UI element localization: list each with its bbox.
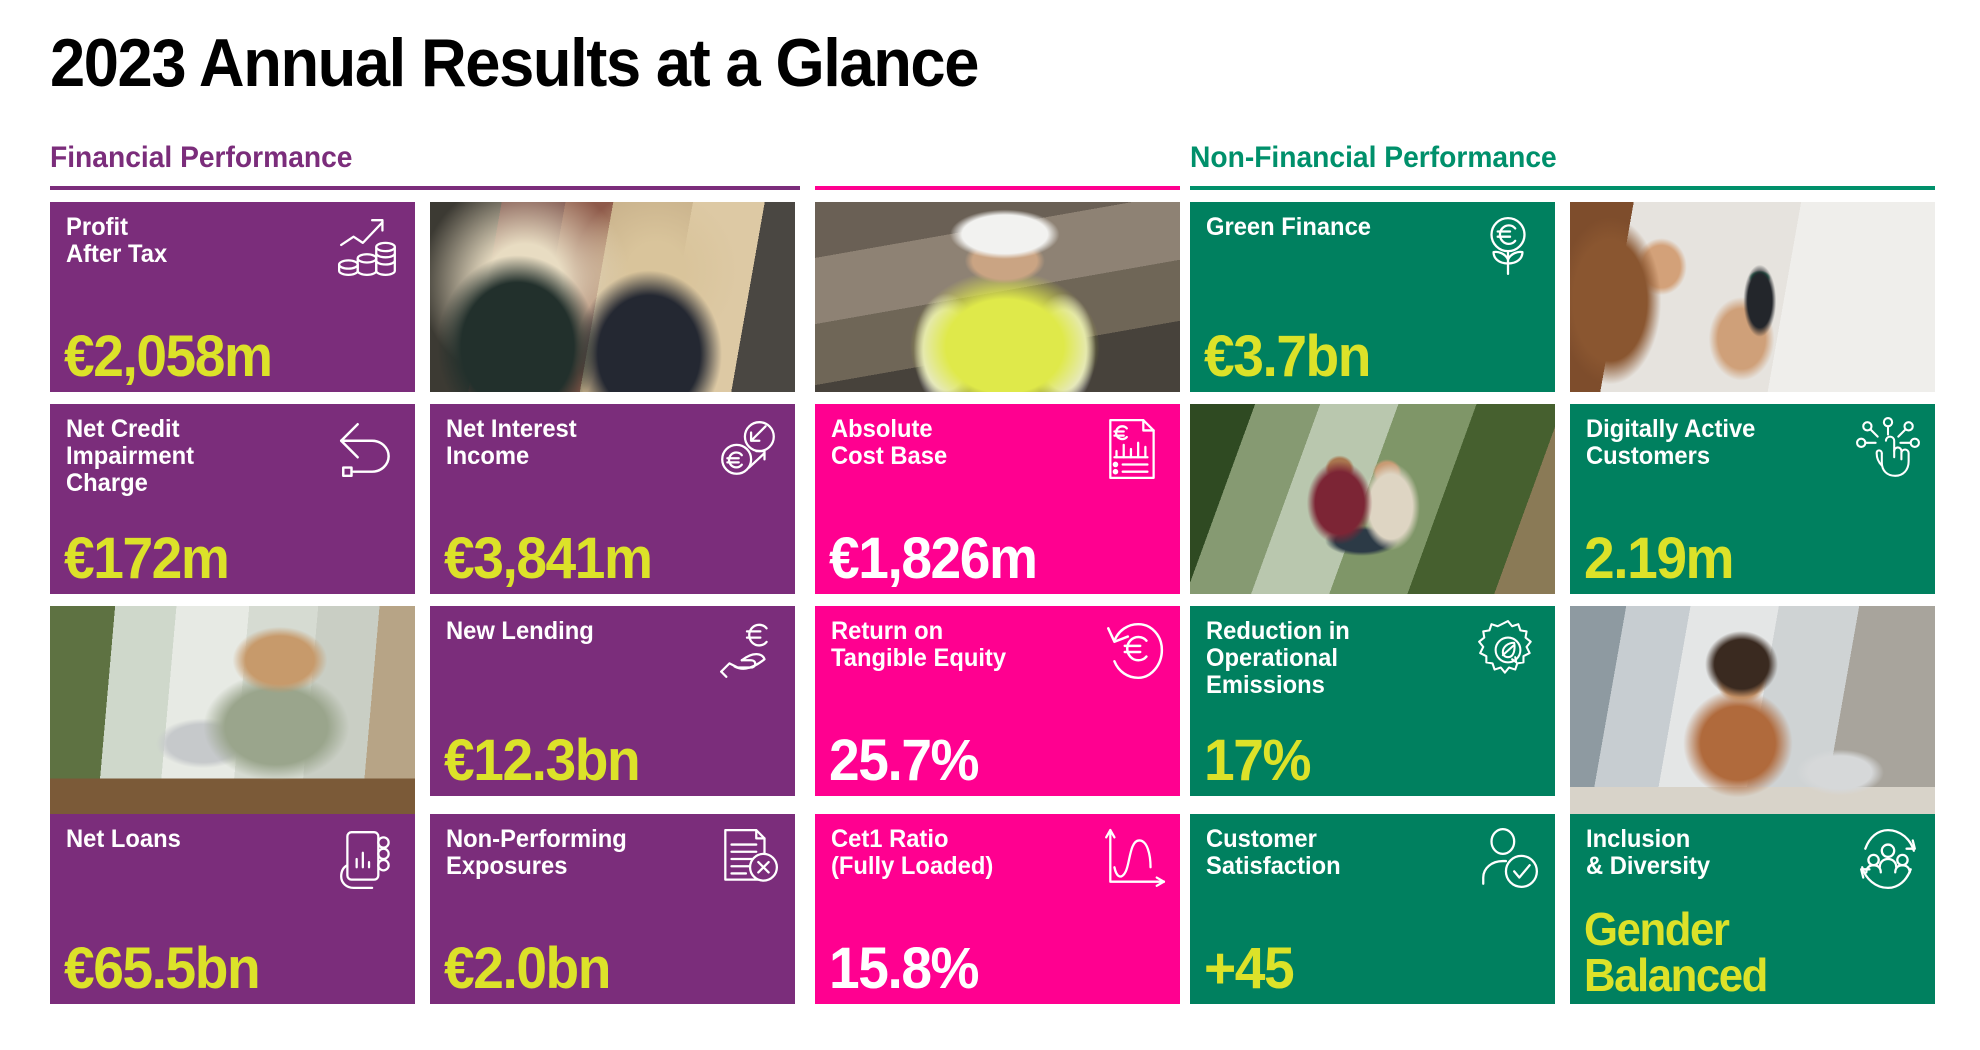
metric-label: Digitally Active Customers [1586,416,1755,470]
metric-label: Cet1 Ratio (Fully Loaded) [831,826,993,880]
metric-value: €172m [64,530,228,588]
metric-tile-net-credit-impairment-charge: Net Credit Impairment Charge €172m [50,404,415,594]
metric-value: €12.3bn [444,732,639,790]
metric-tile-digitally-active-customers: Digitally Active Customers 2.19m [1570,404,1935,594]
metric-label: Net Interest Income [446,416,577,470]
gear-leaf-icon [1475,618,1541,684]
woman-with-coffee-and-laptop-photo [1570,606,1935,814]
metric-label: Reduction in Operational Emissions [1206,618,1350,699]
metric-value: 15.8% [829,940,978,998]
people-circular-arrows-icon [1855,826,1921,892]
hand-mobile-chart-icon [335,826,401,892]
section-heading-non-financial: Non-Financial Performance [1190,143,1557,173]
metric-value: €3.7bn [1204,328,1370,386]
metric-tile-cet1-ratio: Cet1 Ratio (Fully Loaded) 15.8% [815,814,1180,1004]
metric-value: €65.5bn [64,940,259,998]
metric-label: Non-Performing Exposures [446,826,627,880]
metric-label: Absolute Cost Base [831,416,947,470]
metric-label: New Lending [446,618,594,645]
euro-document-chart-icon [1100,416,1166,482]
person-check-icon [1475,826,1541,892]
metric-label: Net Loans [66,826,181,853]
couple-in-greenhouse-photo [1190,404,1555,594]
metric-value: 2.19m [1584,530,1733,588]
touch-network-icon [1855,416,1921,482]
woman-using-mobile-banking-app-photo [1570,202,1935,392]
metric-tile-absolute-cost-base: Absolute Cost Base €1,826m [815,404,1180,594]
metric-tile-green-finance: Green Finance €3.7bn [1190,202,1555,392]
metric-tile-profit-after-tax: Profit After Tax €2,058m [50,202,415,392]
metric-tile-customer-satisfaction: Customer Satisfaction +45 [1190,814,1555,1004]
metric-value: +45 [1204,940,1293,998]
metric-tile-net-loans: Net Loans €65.5bn [50,814,415,1004]
two-women-in-bank-branch-photo [430,202,795,392]
metric-label: Green Finance [1206,214,1371,241]
metric-tile-net-interest-income: Net Interest Income €3,841m [430,404,795,594]
metric-label: Return on Tangible Equity [831,618,1006,672]
page-title: 2023 Annual Results at a Glance [50,28,978,99]
metric-value: €3,841m [444,530,652,588]
euro-coins-exchange-icon [715,416,781,482]
metric-value: Gender Balanced [1584,906,1767,998]
metric-tile-reduction-operational-emissions: Reduction in Operational Emissions 17% [1190,606,1555,796]
divider-green [1190,186,1935,190]
metric-tile-non-performing-exposures: Non-Performing Exposures €2.0bn [430,814,795,1004]
document-cross-icon [715,826,781,892]
euro-flower-icon [1475,214,1541,280]
hand-euro-icon [715,618,781,684]
euro-circular-arrow-icon [1100,618,1166,684]
metric-tile-return-on-tangible-equity: Return on Tangible Equity 25.7% [815,606,1180,796]
line-graph-axes-icon [1100,826,1166,892]
coins-growth-arrow-icon [335,214,401,280]
metric-label: Net Credit Impairment Charge [66,416,194,497]
metric-value: €2.0bn [444,940,610,998]
infographic-page: 2023 Annual Results at a Glance Financia… [0,0,1980,1050]
metric-tile-new-lending: New Lending €12.3bn [430,606,795,796]
metric-value: 17% [1204,732,1310,790]
construction-worker-hi-vis-photo [815,202,1180,392]
metric-label: Customer Satisfaction [1206,826,1341,880]
divider-pink [815,186,1180,190]
metric-label: Profit After Tax [66,214,167,268]
metric-label: Inclusion & Diversity [1586,826,1710,880]
metric-tile-inclusion-diversity: Inclusion & Diversity Gender Balanced [1570,814,1935,1004]
section-heading-financial: Financial Performance [50,143,352,173]
metric-value: 25.7% [829,732,978,790]
divider-purple [50,186,800,190]
metric-value: €1,826m [829,530,1037,588]
metric-value: €2,058m [64,328,272,386]
man-with-laptop-at-window-photo [50,606,415,814]
return-arrow-icon [335,416,401,482]
